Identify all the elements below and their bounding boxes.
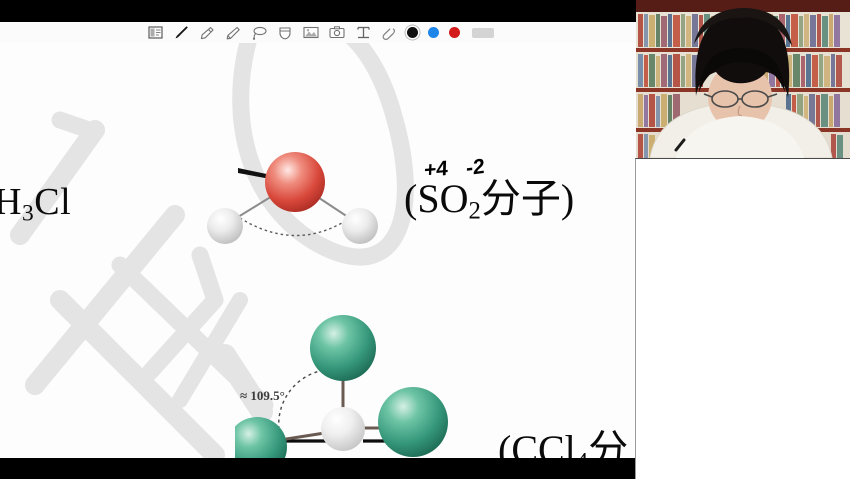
ink-oxidation-state-sulfur: +4 [424,157,449,183]
more-options-button[interactable] [472,28,494,38]
color-black-swatch[interactable] [407,27,418,38]
image-icon[interactable] [298,23,324,42]
color-blue-swatch[interactable] [428,27,439,38]
pen-icon[interactable] [168,23,194,42]
ccl4-molecule [235,310,465,460]
eraser-icon[interactable] [272,23,298,42]
marker-icon[interactable] [220,23,246,42]
letterbox-top [0,0,636,22]
highlighter-icon[interactable] [194,23,220,42]
text-tool-icon[interactable] [350,23,376,42]
paperclip-icon[interactable] [376,23,402,42]
so2-molecule [190,140,400,250]
label-bond-angle: ≈ 109.5° [240,388,285,404]
whiteboard-canvas[interactable]: H3Cl (SO2分子) (CCl4分 ≈ 109.5° +4 -2 [0,0,636,478]
webcam-video-frame [636,0,850,158]
screen-root: H3Cl (SO2分子) (CCl4分 ≈ 109.5° +4 -2 [0,0,850,478]
label-h3cl: H3Cl [0,180,71,228]
teacher-webcam[interactable] [636,0,850,158]
slide-thumbnail-icon[interactable] [142,23,168,42]
ink-oxidation-state-oxygen: -2 [466,155,485,181]
camera-icon[interactable] [324,23,350,42]
drawing-toolbar[interactable] [0,22,636,43]
color-red-swatch[interactable] [449,27,460,38]
lasso-select-icon[interactable] [246,23,272,42]
letterbox-bottom [0,458,636,478]
chat-panel[interactable] [635,158,850,479]
